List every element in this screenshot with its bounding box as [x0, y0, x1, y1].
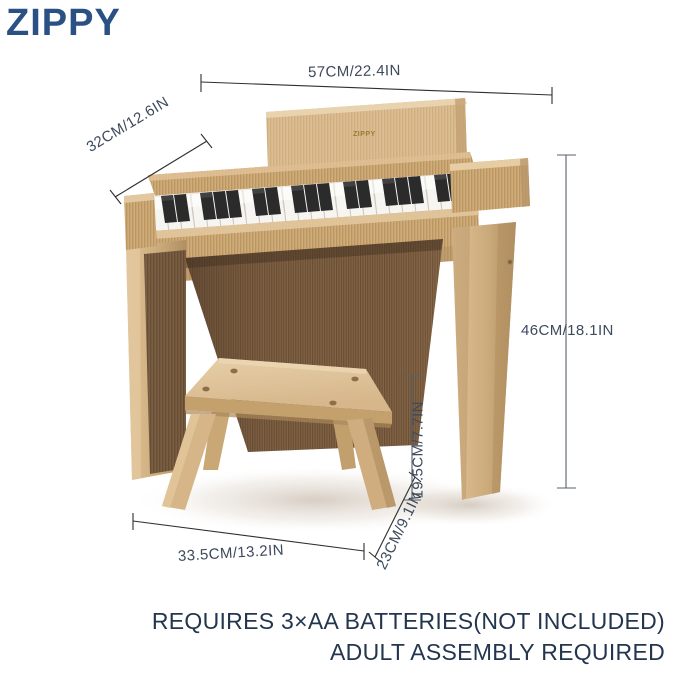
product-image: ZIPPY	[0, 0, 679, 673]
note-assembly: ADULT ASSEMBLY REQUIRED	[152, 637, 665, 669]
dimension-label-height: 46CM/18.1IN	[521, 322, 614, 339]
dimension-label-width: 57CM/22.4IN	[308, 62, 401, 81]
brand-wordmark: ZIPPY	[6, 4, 121, 42]
footer-notes: REQUIRES 3×AA BATTERIES(NOT INCLUDED) AD…	[152, 606, 665, 669]
product-logo-mark: ZIPPY	[353, 131, 376, 138]
dimension-label-bench-height: 19.5CM/7.7IN	[410, 401, 427, 498]
note-batteries: REQUIRES 3×AA BATTERIES(NOT INCLUDED)	[152, 606, 665, 638]
